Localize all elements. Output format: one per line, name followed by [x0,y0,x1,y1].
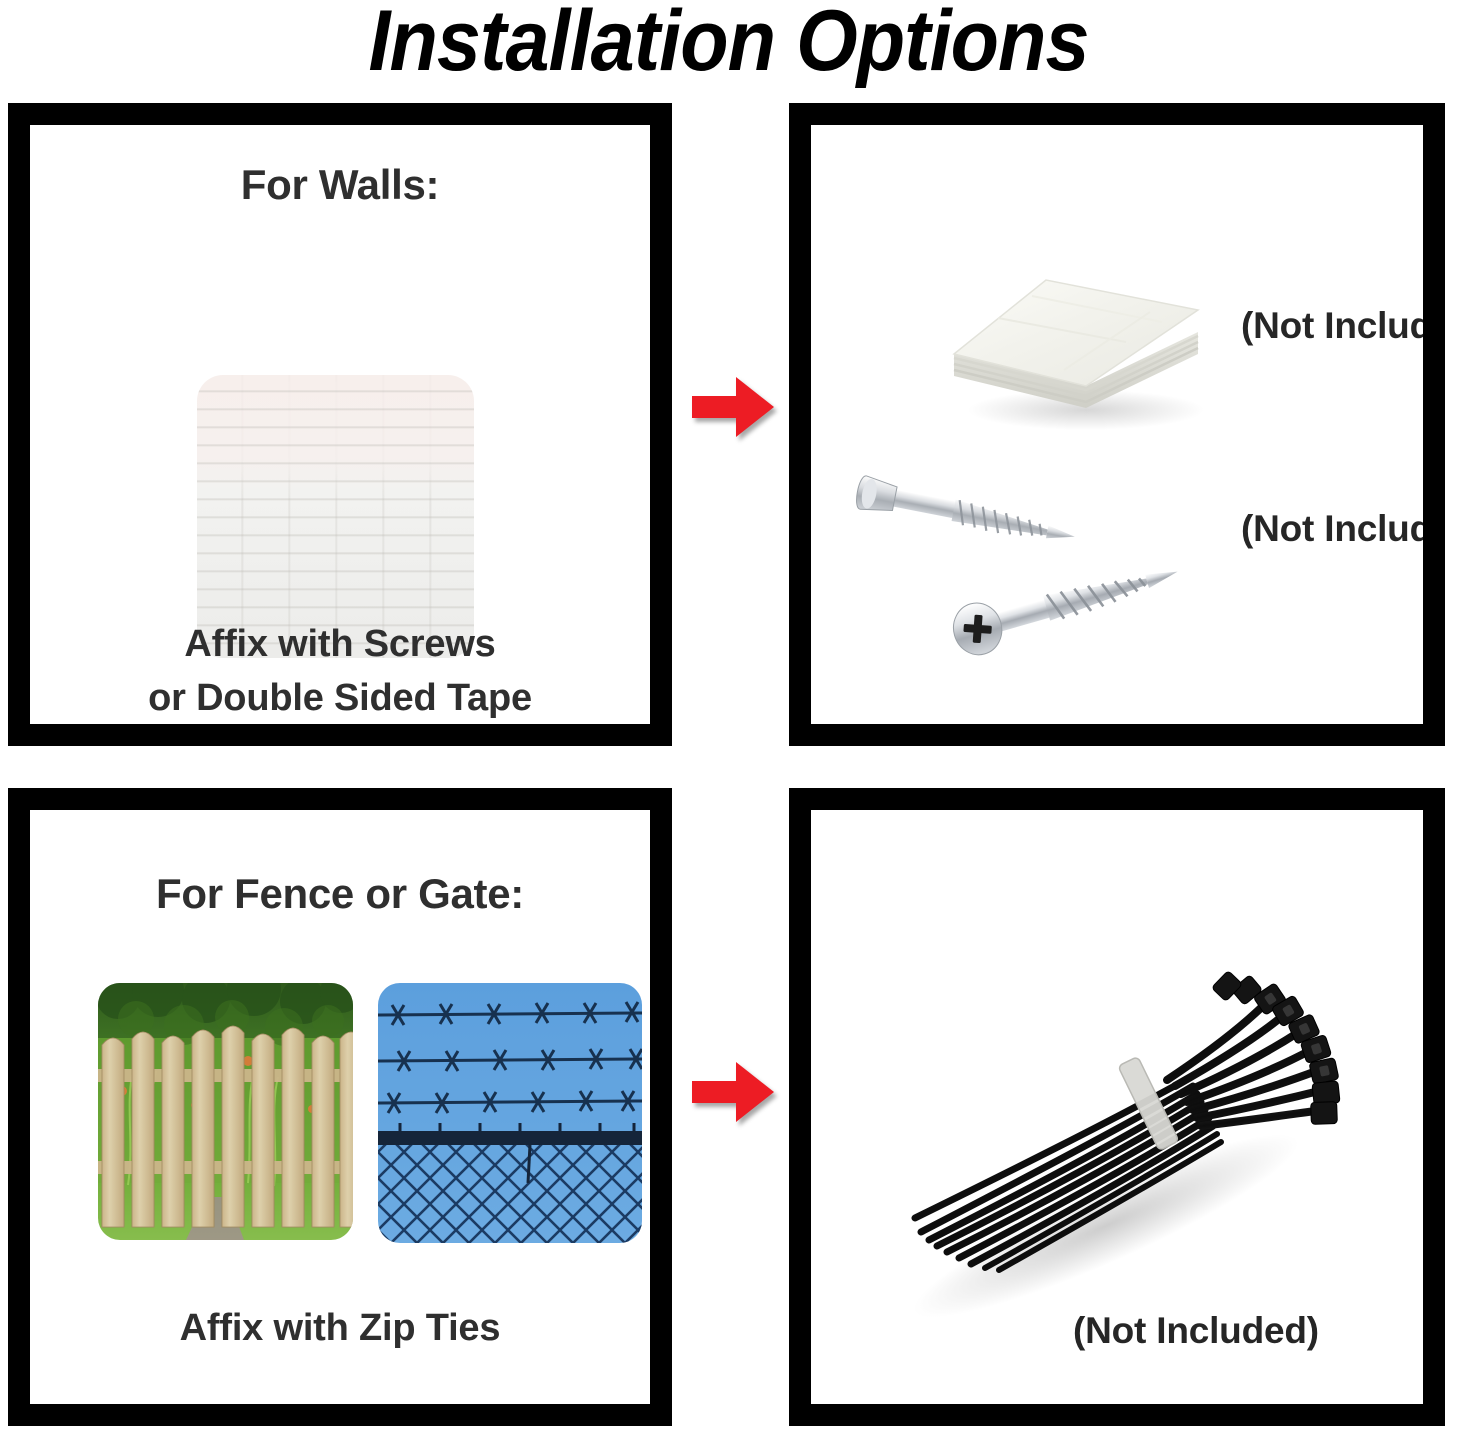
panel-for-walls-caption-line1: Affix with Screws [30,618,650,672]
panel-for-fence-or-gate-body: For Fence or Gate: [30,810,650,1404]
wood-screw-lower [948,555,1188,650]
black-zip-tie-bundle [871,940,1341,1290]
white-brick-wall-swatch [197,375,474,658]
zip-ties-not-included-label: (Not Included) [1073,1310,1319,1352]
arrow-right-icon [692,377,774,437]
panel-for-fence-or-gate: For Fence or Gate: [8,788,672,1426]
panel-hardware-body: (Not Included) [811,125,1423,724]
page-title: Installation Options [58,0,1398,89]
wooden-picket-fence-photo [98,983,353,1240]
panel-for-fence-heading: For Fence or Gate: [30,870,650,918]
chain-link-barbed-wire-fence-photo [378,983,642,1243]
panel-zip-ties-body: (Not Included) [811,810,1423,1404]
wood-screw-upper [853,470,1083,560]
panel-for-fence-caption-line1: Affix with Zip Ties [30,1302,650,1356]
double-sided-tape-stack [936,258,1216,438]
arrow-right-icon [692,1062,774,1122]
panel-for-walls: For Walls: Affix with Screws or Double S… [8,103,672,746]
panel-for-walls-heading: For Walls: [30,161,650,209]
tape-not-included-label: (Not Included) [1241,305,1423,347]
panel-hardware: (Not Included) [789,103,1445,746]
panel-zip-ties: (Not Included) [789,788,1445,1426]
screws-not-included-label: (Not Included) [1241,508,1423,550]
panel-for-walls-caption-line2: or Double Sided Tape [30,672,650,724]
panel-for-walls-body: For Walls: Affix with Screws or Double S… [30,125,650,724]
